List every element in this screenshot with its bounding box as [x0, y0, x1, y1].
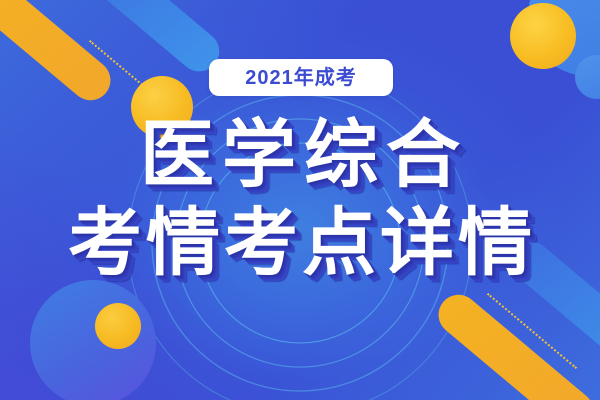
year-badge: 2021年成考 [209, 59, 393, 96]
year-badge-label: 2021年成考 [245, 68, 357, 88]
headline-line-1: 医学综合 [0, 118, 600, 192]
blue-circle-bottom-left-icon [30, 280, 156, 400]
headline-line-2: 考情考点详情 [0, 206, 600, 280]
yellow-circle-bottom-left-icon [95, 303, 141, 349]
promo-banner: 2021年成考 医学综合 考情考点详情 [0, 0, 600, 400]
yellow-circle-top-right-icon [510, 3, 576, 69]
headline-block: 医学综合 考情考点详情 [0, 118, 600, 280]
